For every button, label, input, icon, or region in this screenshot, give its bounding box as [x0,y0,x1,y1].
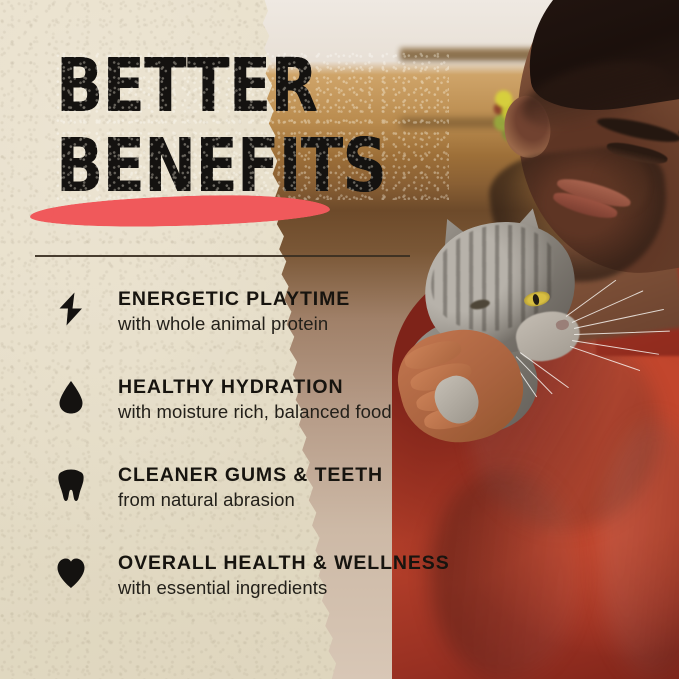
benefit-title: HEALTHY HYDRATION [118,376,343,399]
benefits-content: BETTER BENEFITS ENERGETIC PLAYTIMEwith w… [0,0,470,679]
benefit-item: ENERGETIC PLAYTIMEwith whole animal prot… [0,283,470,371]
horizontal-divider [35,255,410,257]
benefit-item: HEALTHY HYDRATIONwith moisture rich, bal… [0,371,470,459]
benefit-title: CLEANER GUMS & TEETH [118,464,383,487]
page-title: BETTER BENEFITS [56,52,449,200]
benefit-subtitle: from natural abrasion [118,489,295,511]
lightning-bolt-icon [56,291,86,327]
headline-line-1: BETTER [56,52,386,120]
tooth-icon [56,467,86,503]
promo-banner: BETTER BENEFITS ENERGETIC PLAYTIMEwith w… [0,0,679,679]
benefit-subtitle: with moisture rich, balanced food [118,401,392,423]
benefits-list: ENERGETIC PLAYTIMEwith whole animal prot… [0,283,470,635]
water-droplet-icon [56,379,86,415]
benefit-title: OVERALL HEALTH & WELLNESS [118,552,450,575]
benefit-title: ENERGETIC PLAYTIME [118,288,350,311]
benefit-subtitle: with essential ingredients [118,577,327,599]
heart-icon [56,555,86,591]
benefit-item: CLEANER GUMS & TEETHfrom natural abrasio… [0,459,470,547]
headline-line-2: BENEFITS [56,132,386,200]
benefit-subtitle: with whole animal protein [118,313,328,335]
benefit-item: OVERALL HEALTH & WELLNESSwith essential … [0,547,470,635]
